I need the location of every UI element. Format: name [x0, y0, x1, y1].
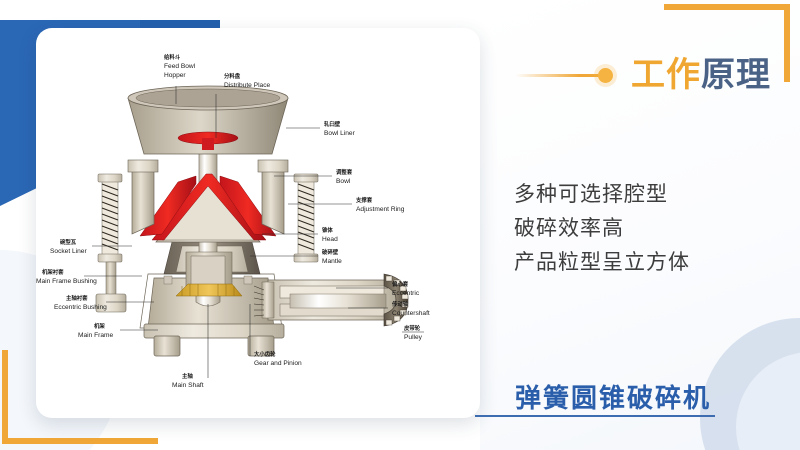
label-cn-5: 锥体	[322, 226, 333, 234]
slide-canvas: 给料斗 Feed Bowl Hopper 分料盘 Distribute Plac…	[0, 0, 800, 450]
feature-item-2: 破碎效率高	[514, 212, 784, 246]
label-cn-11: 机架衬套	[42, 268, 64, 276]
diagram-card: 给料斗 Feed Bowl Hopper 分料盘 Distribute Plac…	[36, 28, 480, 418]
label-en-3: Bowl	[336, 178, 351, 185]
label-cn-10: 碗型瓦	[60, 238, 77, 246]
label-cn-7: 偏心套	[392, 280, 409, 288]
label-cn-14: 大小齿轮	[254, 350, 276, 358]
label-cn-15: 主轴	[182, 372, 193, 380]
label-cn-4: 支撑套	[355, 196, 373, 204]
label-cn-0: 给料斗	[164, 53, 181, 61]
label-en-2: Bowl Liner	[324, 130, 356, 137]
spring-left	[96, 174, 126, 312]
title-accent-dot	[598, 68, 613, 83]
feature-item-3: 产品粒型呈立方体	[514, 246, 784, 280]
right-content-column: 工作原理 多种可选择腔型 破碎效率高 产品粒型呈立方体 弹簧圆锥破碎机	[480, 0, 800, 450]
label-en-6: Mantle	[322, 258, 342, 265]
label-cn-8: 传动轴	[391, 300, 409, 308]
product-name-underline	[475, 415, 715, 417]
label-cn-13: 机架	[94, 322, 105, 330]
title-accent-line	[515, 74, 601, 77]
label-cn-2: 轧臼壁	[324, 120, 341, 128]
label-en-4: Adjustment Ring	[356, 206, 405, 213]
label-cn-6: 破碎壁	[322, 248, 339, 256]
section-title-row: 工作原理	[515, 58, 771, 92]
label-cn-12: 主轴衬套	[66, 294, 88, 302]
page-title: 工作原理	[631, 58, 771, 92]
diagram-card-inner: 给料斗 Feed Bowl Hopper 分料盘 Distribute Plac…	[36, 28, 480, 418]
label-en-5: Head	[322, 236, 338, 243]
label-cn-9: 皮带轮	[403, 324, 421, 332]
feature-list: 多种可选择腔型 破碎效率高 产品粒型呈立方体	[514, 178, 784, 280]
product-name: 弹簧圆锥破碎机	[515, 378, 711, 415]
label-en-14: Gear and Pinion	[254, 360, 302, 367]
spring-right	[294, 174, 318, 262]
label-en-7: Eccentric	[392, 290, 420, 297]
machine-body	[96, 86, 408, 356]
feature-item-1: 多种可选择腔型	[514, 178, 784, 212]
countershaft-assembly	[254, 274, 408, 326]
label-en-9: Pulley	[404, 334, 423, 341]
label-en-12: Eccentric Bushing	[54, 304, 107, 311]
crusher-diagram-svg: 给料斗 Feed Bowl Hopper 分料盘 Distribute Plac…	[36, 28, 480, 418]
label-en-8: Countershaft	[392, 310, 430, 317]
label-en-11: Main Frame Bushing	[36, 278, 97, 285]
label-en-15: Main Shaft	[172, 382, 204, 389]
label-en-0: Feed Bowl	[164, 63, 196, 70]
label-cn-3: 调整套	[336, 168, 353, 176]
label-en2-0: Hopper	[164, 72, 186, 79]
label-cn-1: 分料盘	[224, 72, 241, 80]
label-en-1: Distribute Place	[224, 82, 271, 89]
label-en-13: Main Frame	[78, 332, 114, 339]
page-title-part2: 原理	[701, 56, 771, 94]
page-title-part1: 工作	[631, 56, 701, 94]
label-en-10: Socket Liner	[50, 248, 87, 255]
